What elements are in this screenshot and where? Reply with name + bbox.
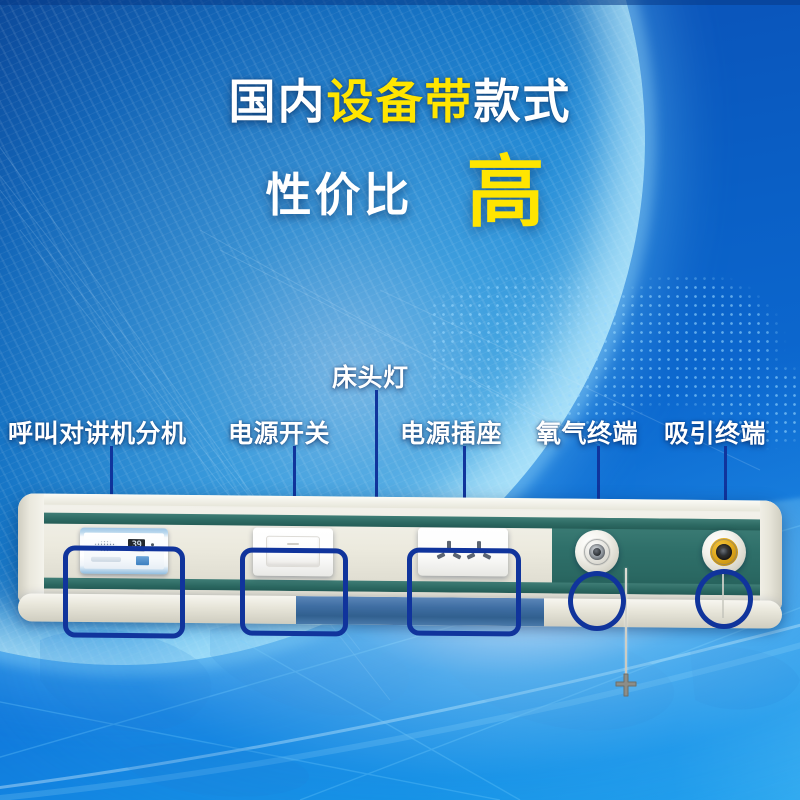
panel-end-cap-right bbox=[760, 500, 782, 612]
oxygen-port-hole-icon bbox=[593, 548, 601, 556]
panel-top-edge bbox=[18, 493, 782, 511]
callout-labels: 呼叫对讲机分机 电源开关 床头灯 电源插座 氧气终端 吸引终端 bbox=[0, 0, 800, 800]
callout-label-outlet: 电源插座 bbox=[400, 414, 502, 450]
callout-label-bedlamp: 床头灯 bbox=[332, 358, 409, 394]
suction-terminal[interactable] bbox=[702, 530, 746, 574]
callout-label-oxygen: 氧气终端 bbox=[536, 414, 638, 450]
switch-nub-icon bbox=[287, 543, 299, 545]
highlight-box-intercom bbox=[63, 545, 185, 638]
suction-port-hole-icon bbox=[720, 548, 728, 556]
oxygen-terminal[interactable] bbox=[575, 530, 619, 574]
callout-label-suction: 吸引终端 bbox=[664, 414, 766, 450]
callout-label-intercom: 呼叫对讲机分机 bbox=[8, 414, 187, 450]
highlight-circle-oxygen bbox=[568, 571, 626, 631]
pull-cord[interactable] bbox=[625, 568, 627, 678]
callout-label-switch: 电源开关 bbox=[228, 414, 330, 450]
pull-hook-icon[interactable] bbox=[612, 672, 640, 700]
poster-canvas: 国内设备带款式 性价比 高 呼叫对讲机分机 电源开关 床头灯 电源插座 氧气终端… bbox=[0, 0, 800, 800]
highlight-box-switch bbox=[240, 547, 348, 636]
highlight-circle-suction bbox=[695, 569, 753, 629]
panel-end-cap-left bbox=[18, 493, 44, 605]
highlight-box-outlet bbox=[407, 547, 521, 636]
